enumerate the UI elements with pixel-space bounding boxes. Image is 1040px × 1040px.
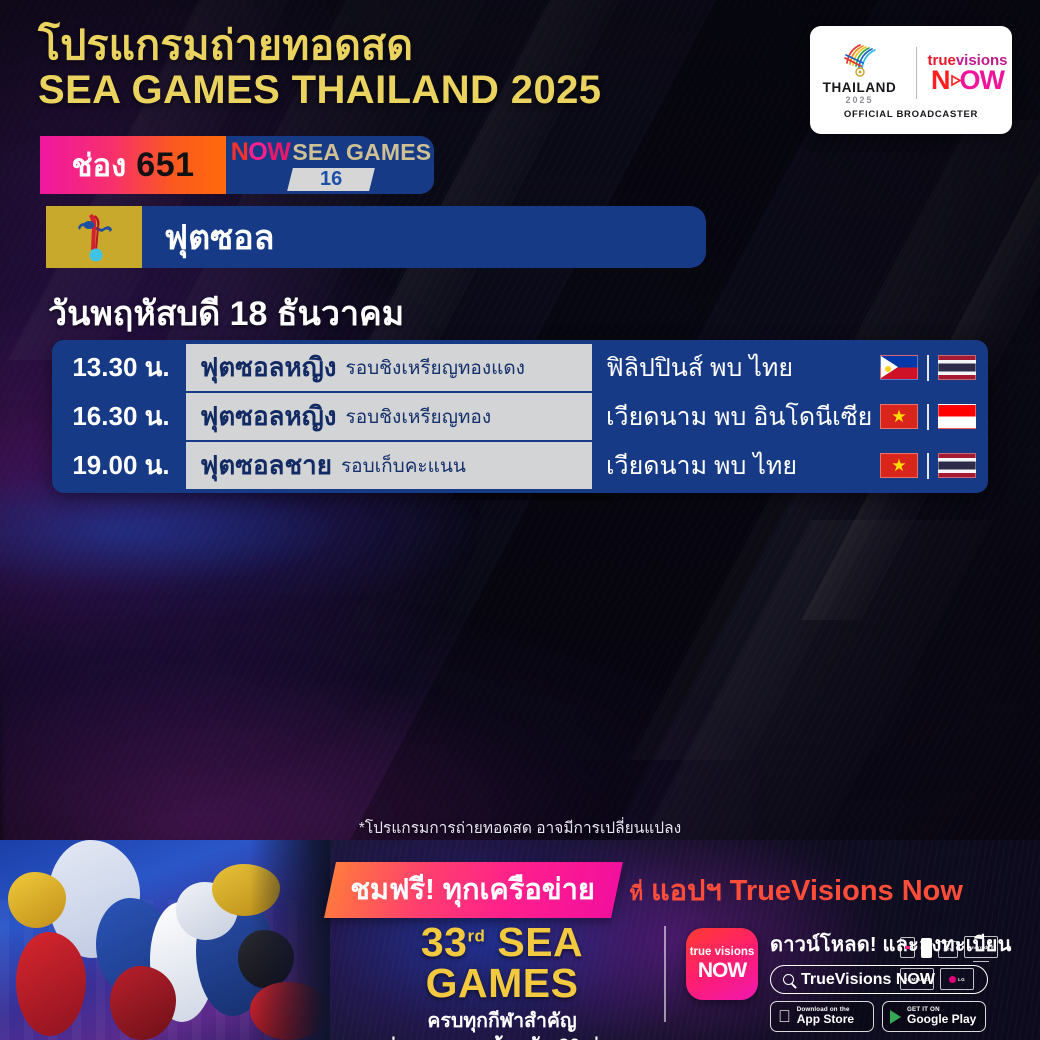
store-badges:  Download on the App Store GET IT ON Go… <box>770 1001 1011 1032</box>
app-store-button[interactable]:  Download on the App Store <box>770 1001 874 1032</box>
sea-games-subline-1: ครบทุกกีฬาสำคัญ <box>352 1009 652 1034</box>
row-event-main: ฟุตซอลหญิง <box>200 347 336 388</box>
google-play-icon <box>890 1010 901 1024</box>
flag-separator <box>927 404 929 430</box>
row-event: ฟุตซอลหญิง รอบชิงเหรียญทองแดง <box>186 344 592 391</box>
android-tv-icon: AndroidTV <box>964 936 998 958</box>
row-time: 16.30 น. <box>56 393 186 440</box>
row-event-main: ฟุตซอลชาย <box>200 445 332 486</box>
vietnam-flag-icon: ★ <box>880 453 918 478</box>
app-mention-text: แอปฯ TrueVisions Now <box>651 875 963 907</box>
banner-vertical-divider <box>664 926 666 1022</box>
thailand-flag-icon <box>938 453 976 478</box>
flag-separator <box>927 355 929 381</box>
apple-icon:  <box>778 1008 791 1025</box>
now-channel-number: 16 <box>320 168 342 191</box>
supported-devices: TV AndroidTV SAMSUNG LG <box>900 936 998 990</box>
flag-separator <box>927 453 929 479</box>
free-viewing-headline: ชมฟรี! ทุกเครือข่าย ที่ แอปฯ TrueVisions… <box>330 862 963 918</box>
now-letter-o: O <box>248 140 267 165</box>
free-viewing-text: ชมฟรี! ทุกเครือข่าย <box>350 866 595 912</box>
broadcaster-logos: THAILAND 2025 truevisions N OW <box>812 40 1011 106</box>
row-teams: เวียดนาม พบ ไทย <box>592 442 872 489</box>
page-title-thai: โปรแกรมถ่ายทอดสด <box>38 24 798 67</box>
schedule-date: วันพฤหัสบดี 18 ธันวาคม <box>48 286 404 340</box>
play-label: Google Play <box>907 1013 976 1026</box>
channel-row: ช่อง 651 N O W SEA GAMES 16 <box>40 136 434 194</box>
sea-games-edition-number: 33 <box>421 919 468 965</box>
now-sea-games-badge: N O W SEA GAMES 16 <box>220 136 434 194</box>
table-row[interactable]: 19.00 น. ฟุตซอลชาย รอบเก็บคะแนน เวียดนาม… <box>56 442 984 489</box>
futsal-icon <box>46 206 142 268</box>
sport-name-bar: ฟุตซอล <box>140 206 706 268</box>
app-store-label: App Store <box>797 1013 854 1026</box>
app-mention: ที่ แอปฯ TrueVisions Now <box>630 867 963 913</box>
table-row[interactable]: 16.30 น. ฟุตซอลหญิง รอบชิงเหรียญทอง เวีย… <box>56 393 984 440</box>
sea-games-ordinal: rd <box>467 926 485 945</box>
truevisions-now-logo: truevisions N OW <box>925 53 1011 94</box>
logo-divider <box>916 47 917 99</box>
row-event-stage: รอบเก็บคะแนน <box>341 451 466 481</box>
phone-icon <box>921 938 932 958</box>
thailand-flag-icon <box>938 355 976 380</box>
row-flags: ★ <box>872 442 984 489</box>
row-event-main: ฟุตซอลหญิง <box>200 396 336 437</box>
poster-header: โปรแกรมถ่ายทอดสด SEA GAMES THAILAND 2025 <box>38 24 798 113</box>
channel-badge: ช่อง 651 <box>40 136 226 194</box>
now-wordmark: N OW <box>931 67 1004 94</box>
now-sea-games-wordmark: N O W SEA GAMES <box>231 140 432 165</box>
schedule-disclaimer: *โปรแกรมการถ่ายทอดสด อาจมีการเปลี่ยนแปลง <box>0 815 1040 840</box>
row-flags <box>872 344 984 391</box>
row-event: ฟุตซอลชาย รอบเก็บคะแนน <box>186 442 592 489</box>
now-letter-n: N <box>231 140 249 165</box>
athlete-collage-image <box>0 840 330 1040</box>
row-teams: เวียดนาม พบ อินโดนีเซีย <box>592 393 872 440</box>
schedule-table: 13.30 น. ฟุตซอลหญิง รอบชิงเหรียญทองแดง ฟ… <box>52 340 988 493</box>
apple-tv-icon: TV <box>938 941 958 958</box>
poster-root: โปรแกรมถ่ายทอดสด SEA GAMES THAILAND 2025… <box>0 0 1040 1040</box>
sport-name-text: ฟุตซอล <box>164 210 274 264</box>
table-row[interactable]: 13.30 น. ฟุตซอลหญิง รอบชิงเหรียญทองแดง ฟ… <box>56 344 984 391</box>
free-viewing-pill: ชมฟรี! ทุกเครือข่าย <box>324 862 623 918</box>
thailand-2025-logo: THAILAND 2025 <box>812 41 908 105</box>
vietnam-flag-icon: ★ <box>880 404 918 429</box>
now-ow-letters: OW <box>960 67 1005 94</box>
search-icon <box>783 974 794 985</box>
sea-games-subline-2: ถ่ายทอดสดพร้อมกัน 20 ช่อง <box>352 1034 652 1040</box>
sea-games-block: 33rd SEA GAMES ครบทุกกีฬาสำคัญ ถ่ายทอดสด… <box>352 922 652 1040</box>
truevisions-now-app-icon[interactable]: true visions NOW <box>686 928 758 1000</box>
sea-games-heading: 33rd SEA GAMES <box>352 922 652 1004</box>
row-event-stage: รอบชิงเหรียญทองแดง <box>345 353 524 383</box>
row-teams: ฟิลิปปินส์ พบ ไทย <box>592 344 872 391</box>
sport-row: ฟุตซอล <box>46 206 706 268</box>
row-time: 19.00 น. <box>56 442 186 489</box>
app-mention-prefix: ที่ <box>630 883 643 905</box>
tablet-icon <box>900 937 915 958</box>
official-broadcaster-label: OFFICIAL BROADCASTER <box>844 109 978 120</box>
app-icon-now: NOW <box>698 960 746 981</box>
now-sea-games-text: SEA GAMES <box>292 141 431 164</box>
page-title-english: SEA GAMES THAILAND 2025 <box>38 69 798 112</box>
thailand-emblem-icon <box>837 41 883 79</box>
row-event-stage: รอบชิงเหรียญทอง <box>345 402 491 432</box>
now-letter-w: W <box>267 140 290 165</box>
thailand-year: 2025 <box>845 95 873 105</box>
philippines-flag-icon <box>880 355 918 380</box>
row-flags: ★ <box>872 393 984 440</box>
row-event: ฟุตซอลหญิง รอบชิงเหรียญทอง <box>186 393 592 440</box>
row-time: 13.30 น. <box>56 344 186 391</box>
indonesia-flag-icon <box>938 404 976 429</box>
channel-label: ช่อง <box>71 140 126 190</box>
app-icon-true-visions: true visions <box>690 947 755 959</box>
now-channel-number-chip: 16 <box>287 168 375 191</box>
thailand-label: THAILAND <box>823 80 897 95</box>
google-play-button[interactable]: GET IT ON Google Play <box>882 1001 986 1032</box>
channel-number: 651 <box>136 146 194 185</box>
now-n-letter: N <box>931 67 950 94</box>
official-broadcaster-card: THAILAND 2025 truevisions N OW OFFICIAL … <box>810 26 1012 134</box>
promo-banner: ชมฟรี! ทุกเครือข่าย ที่ แอปฯ TrueVisions… <box>0 840 1040 1040</box>
samsung-tv-icon: SAMSUNG <box>900 968 934 990</box>
lg-tv-icon: LG <box>940 968 974 990</box>
